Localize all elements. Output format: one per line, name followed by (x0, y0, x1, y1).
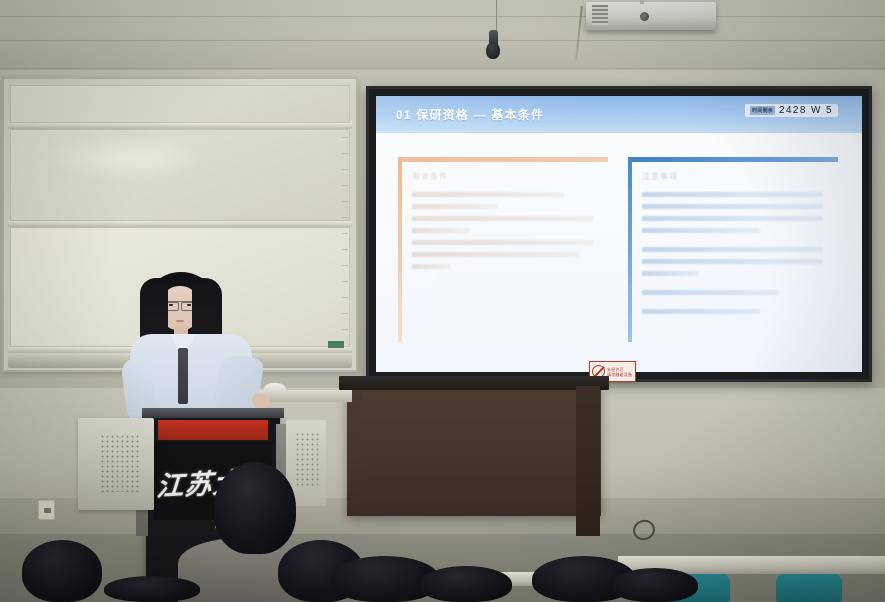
audience-member-head (22, 540, 102, 602)
speaker-grille-icon (100, 434, 140, 492)
presenter-shirt-placket (178, 348, 188, 404)
desk-top-surface (339, 376, 609, 390)
ceiling-projector (586, 2, 716, 30)
ceiling-panel-line (0, 16, 885, 17)
audience-member-head (214, 462, 296, 554)
slide-badge-text: 2428 W 5 (779, 105, 833, 116)
warning-line-2: 请勿触碰设备 (607, 372, 632, 377)
slide-text-line (412, 252, 579, 257)
wall-speaker-left (78, 418, 154, 510)
slide-text-line (642, 271, 699, 276)
panel-content-left: 基本条件 (412, 171, 602, 336)
desk-front-panel (361, 392, 587, 512)
panel-accent-bar (628, 157, 838, 162)
slide-header: 01 保研资格 — 基本条件 时间剩余 2428 W 5 (376, 96, 862, 133)
audience-member-head (104, 576, 200, 602)
projector-vent-icon (592, 5, 608, 25)
slide-text-line (412, 216, 593, 221)
slide-badge-tag: 时间剩余 (750, 106, 775, 115)
projection-screen: 01 保研资格 — 基本条件 时间剩余 2428 W 5 基本条件 (366, 86, 872, 382)
slide-panel-left: 基本条件 (398, 157, 608, 342)
speaker-grille-icon (295, 432, 319, 488)
panel-accent-spine (398, 157, 402, 342)
audience-member-head (420, 566, 512, 602)
panel-heading-right: 注意事项 (642, 171, 832, 182)
slide-text-line (412, 204, 498, 209)
whiteboard-panel-top (10, 85, 350, 123)
power-outlet[interactable] (38, 500, 55, 520)
whiteboard-green-tag (328, 341, 344, 348)
teacher-desk (347, 386, 601, 516)
ceiling-panel-line (0, 40, 885, 41)
screen-surface: 01 保研资格 — 基本条件 时间剩余 2428 W 5 基本条件 (376, 96, 862, 372)
slide-text-line (412, 228, 469, 233)
slide-text-line (642, 309, 760, 314)
audience-member-head (612, 568, 698, 602)
slide-body: 基本条件 (376, 133, 862, 372)
slide-title: 01 保研资格 — 基本条件 (396, 106, 544, 123)
classroom-chair (776, 574, 842, 602)
projector-mount-arm (640, 0, 644, 4)
slide-text-line (642, 290, 779, 295)
slide-text-line (642, 228, 760, 233)
microphone-icon (486, 42, 500, 59)
presenter-mouth (176, 320, 184, 322)
slide-text-line (642, 216, 823, 221)
slide-text-line (642, 259, 823, 264)
presentation-slide: 01 保研资格 — 基本条件 时间剩余 2428 W 5 基本条件 (376, 96, 862, 372)
projector-lens-icon (640, 12, 649, 21)
panel-accent-spine (628, 157, 632, 342)
slide-text-line (412, 240, 593, 245)
slide-text-line (642, 204, 823, 209)
warning-sticker-text: 未经许可 请勿触碰设备 (607, 367, 632, 377)
whiteboard-side-ruler (342, 137, 348, 337)
whiteboard-panel-middle (10, 129, 350, 221)
panel-content-right: 注意事项 (642, 171, 832, 336)
slide-text-line (642, 247, 823, 252)
slide-text-line (642, 192, 823, 197)
panel-accent-bar (398, 157, 608, 162)
lectern-top (142, 408, 284, 418)
ceiling (0, 0, 885, 74)
slide-text-line (412, 192, 564, 197)
classroom-scene: 01 保研资格 — 基本条件 时间剩余 2428 W 5 基本条件 (0, 0, 885, 602)
side-cabinet (576, 386, 600, 536)
slide-badge: 时间剩余 2428 W 5 (745, 104, 838, 117)
panel-heading-left: 基本条件 (412, 171, 602, 182)
lectern-red-band (158, 420, 268, 440)
slide-text-line (412, 264, 450, 269)
slide-panel-right: 注意事项 (628, 157, 838, 342)
